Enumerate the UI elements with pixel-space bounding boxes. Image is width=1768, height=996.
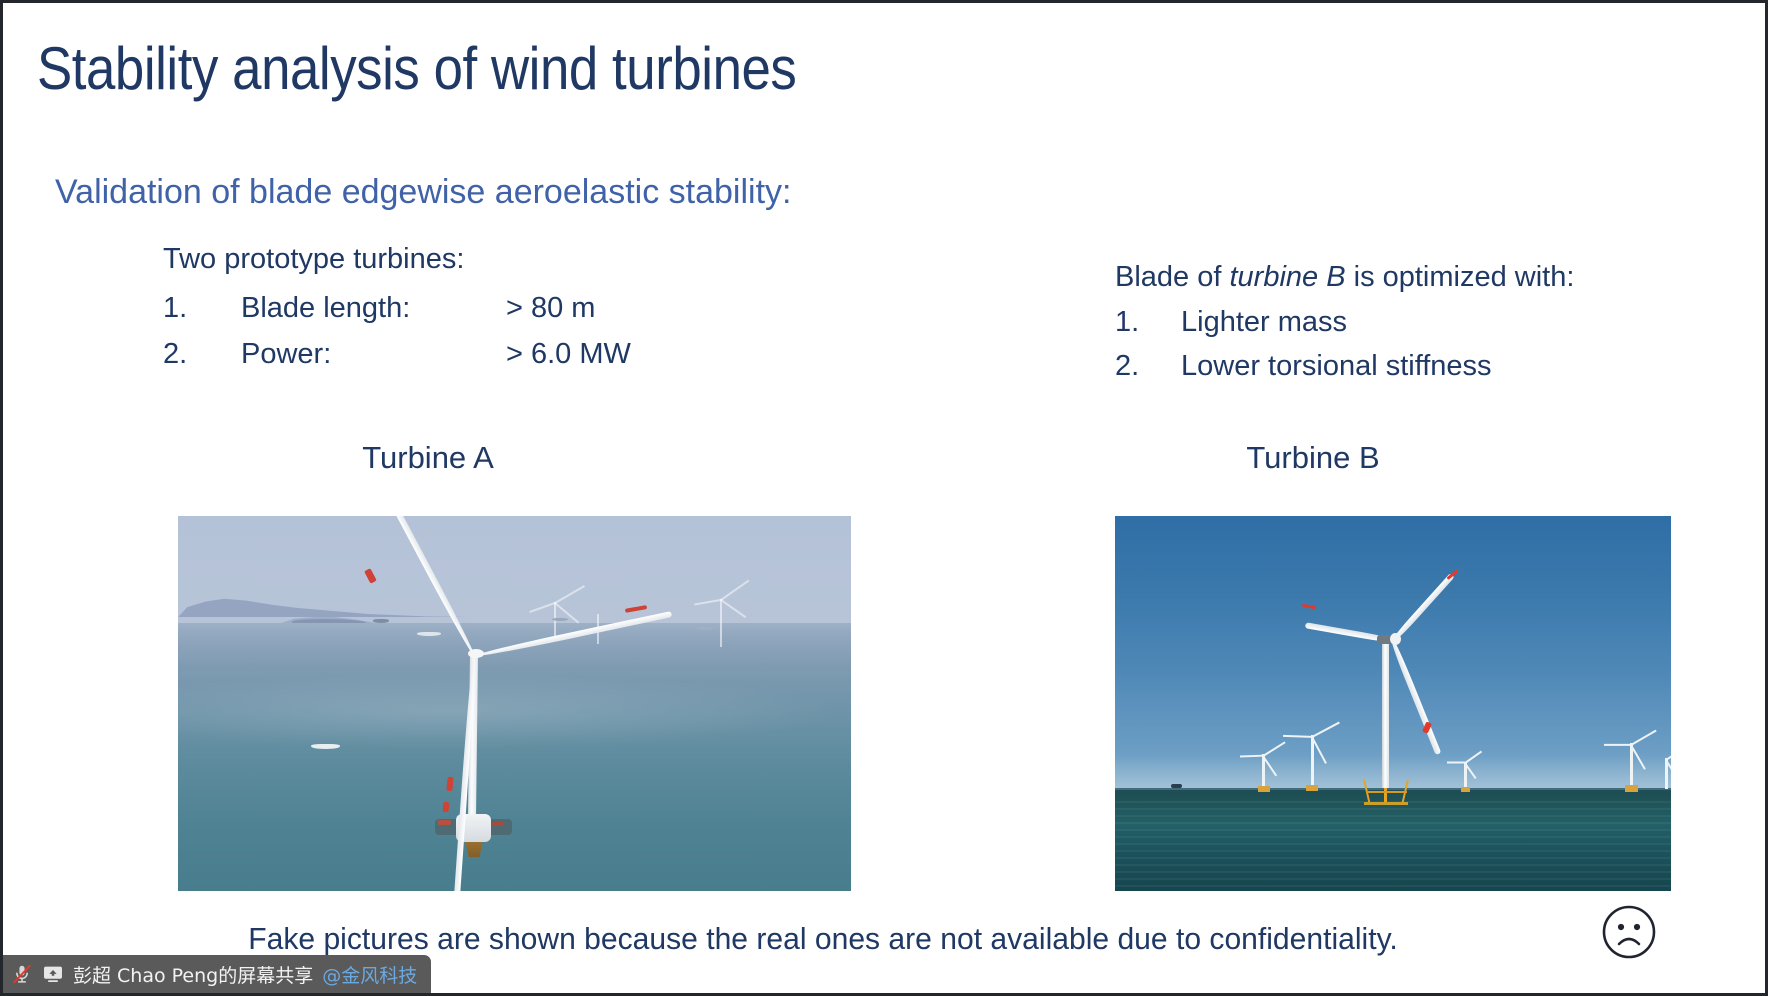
microphone-muted-icon[interactable] (11, 963, 33, 985)
right-heading-pre: Blade of (1115, 261, 1229, 293)
sea-region (178, 623, 851, 891)
right-heading-post: is optimized with: (1346, 261, 1575, 293)
boat (696, 627, 713, 630)
rotor-hub (1390, 633, 1401, 645)
share-bar-text: 彭超 Chao Peng的屏幕共享 (73, 961, 313, 988)
water-sheen (178, 674, 851, 749)
offshore-wind-turbine-photo-b (1115, 516, 1671, 891)
jacket-brace (1364, 802, 1408, 805)
blade-tip-marking (443, 801, 450, 811)
boat (417, 632, 441, 636)
list-item-number: 1. (163, 292, 241, 325)
screen-share-icon[interactable] (42, 963, 64, 985)
background-turbine-base (1625, 785, 1637, 791)
list-item-number: 2. (1115, 350, 1181, 383)
background-turbine-base (1258, 786, 1269, 792)
caption-turbine-a: Turbine A (303, 440, 553, 476)
support-vessel (438, 820, 451, 825)
caption-turbine-b: Turbine B (1188, 440, 1438, 476)
support-vessel (492, 822, 504, 826)
right-heading-emphasis: turbine B (1229, 261, 1345, 293)
list-item: 2. Power: > 6.0 MW (163, 338, 803, 371)
background-turbine-blade (1604, 744, 1631, 746)
turbine-tower (1382, 642, 1388, 788)
slide-subtitle: Validation of blade edgewise aeroelastic… (55, 173, 791, 212)
list-item-label: Blade length: (241, 292, 506, 325)
sad-face-icon (1600, 903, 1658, 961)
right-text-block: Blade of turbine B is optimized with: 1.… (1115, 261, 1735, 394)
list-item: 2. Lower torsional stiffness (1115, 350, 1735, 383)
distant-ship (1171, 784, 1182, 788)
offshore-wind-turbine-photo-a (178, 516, 851, 891)
water-ripples (1115, 801, 1671, 891)
background-turbine-tower (1311, 735, 1314, 788)
list-item-number: 1. (1115, 306, 1181, 339)
background-turbine-base (1461, 787, 1470, 792)
left-text-block: Two prototype turbines: 1. Blade length:… (163, 243, 803, 384)
background-turbine-base (1306, 785, 1319, 792)
list-item-label: Lighter mass (1181, 306, 1347, 339)
background-turbine-tower (554, 602, 556, 640)
screen-share-bar[interactable]: 彭超 Chao Peng的屏幕共享 @金风科技 (3, 955, 431, 993)
boat (373, 619, 389, 623)
footnote-text: Fake pictures are shown because the real… (28, 921, 1619, 957)
background-turbine-tower (720, 599, 722, 648)
list-item: 1. Lighter mass (1115, 306, 1735, 339)
page-title: Stability analysis of wind turbines (37, 37, 796, 100)
right-heading: Blade of turbine B is optimized with: (1115, 261, 1735, 294)
list-item-label: Power: (241, 338, 506, 371)
left-heading: Two prototype turbines: (163, 243, 803, 276)
list-item-number: 2. (163, 338, 241, 371)
jacket-brace (1366, 791, 1407, 793)
list-item-value: > 80 m (506, 292, 595, 325)
share-bar-host: @金风科技 (322, 961, 417, 988)
shared-screen: Stability analysis of wind turbines Vali… (0, 0, 1768, 996)
list-item-value: > 6.0 MW (506, 338, 631, 371)
sky-region (1115, 516, 1671, 790)
list-item: 1. Blade length: > 80 m (163, 292, 803, 325)
list-item-label: Lower torsional stiffness (1181, 350, 1492, 383)
